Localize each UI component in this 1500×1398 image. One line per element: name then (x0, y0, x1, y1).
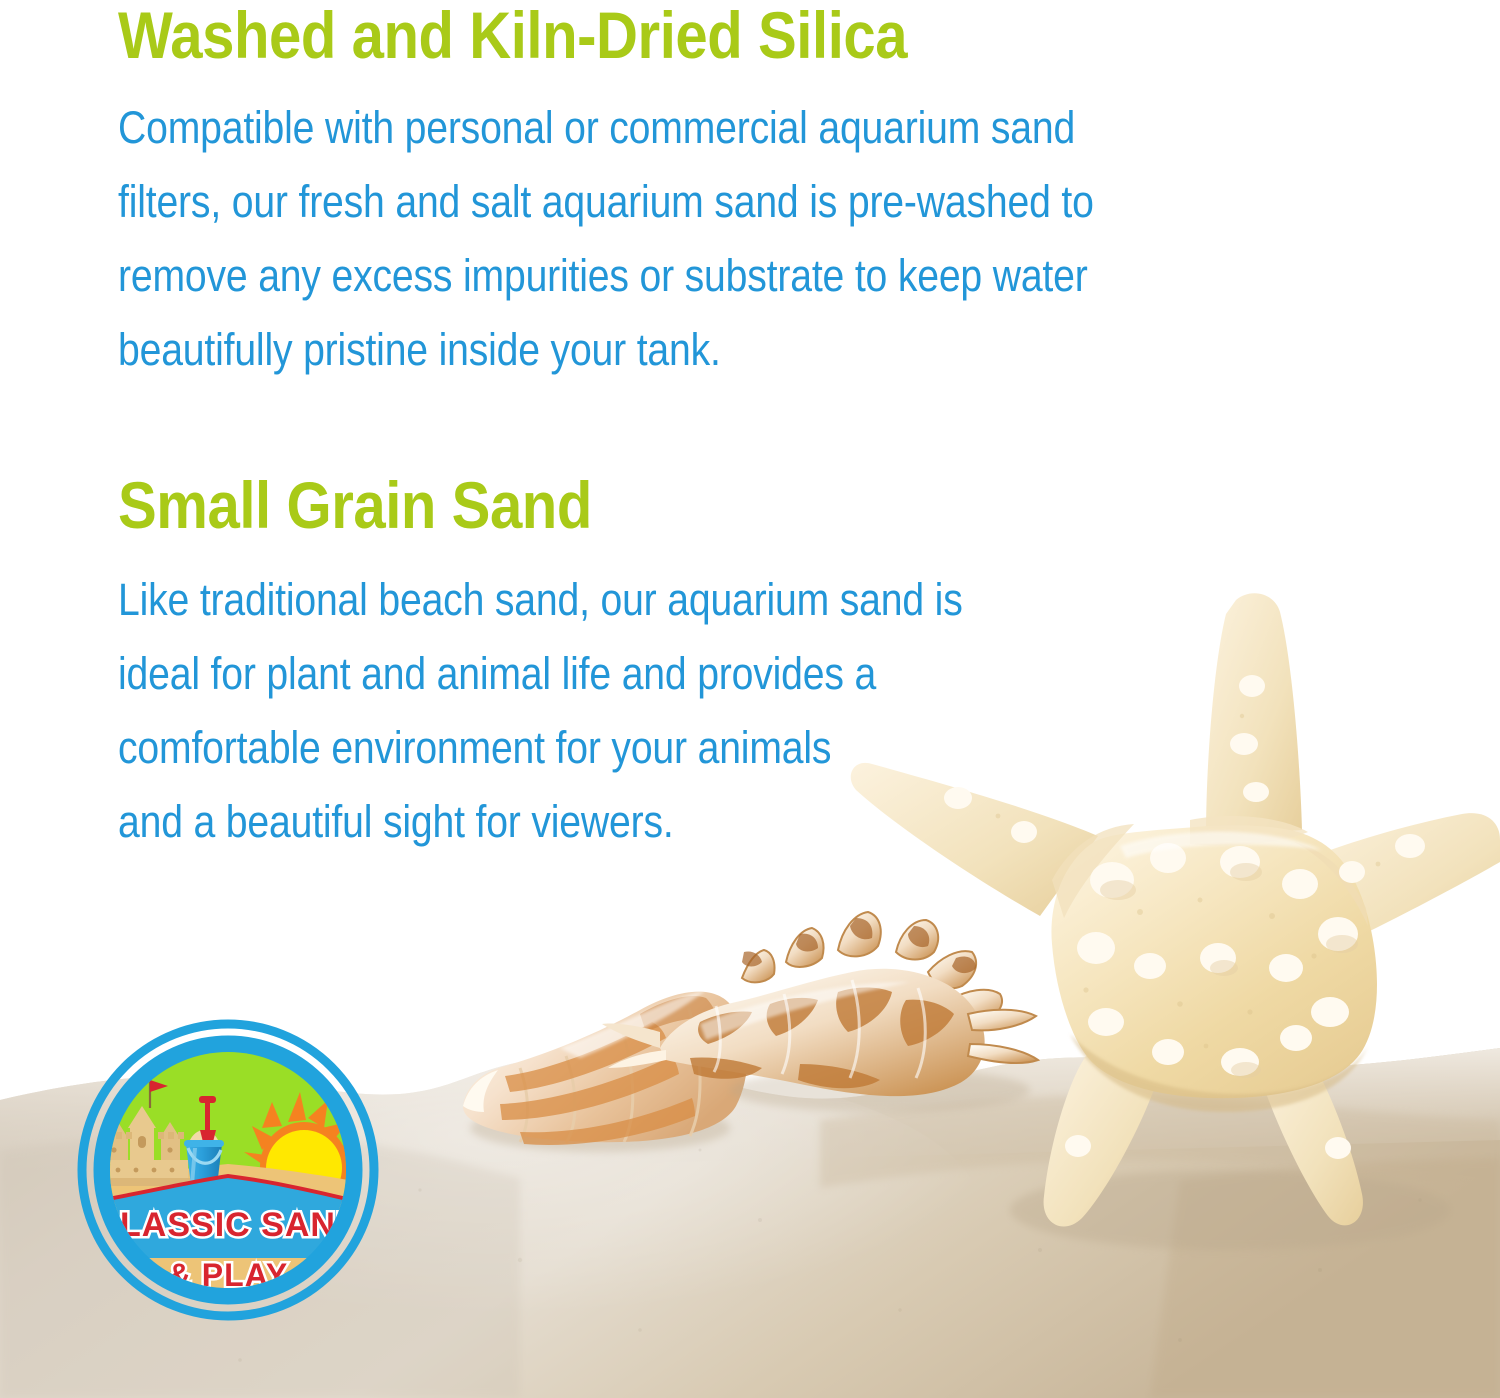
paragraph-line: beautifully pristine inside your tank. (118, 313, 1094, 387)
paragraph-line: ideal for plant and animal life and prov… (118, 637, 963, 711)
paragraph-small-grain-sand: Like traditional beach sand, our aquariu… (118, 563, 963, 859)
feature-block-washed-silica: Washed and Kiln-Dried Silica Compatible … (118, 0, 1239, 387)
conch-shell (602, 912, 1038, 1112)
logo-brand-line-1: CLASSIC SAND (94, 1206, 361, 1244)
heading-small-grain-sand: Small Grain Sand (118, 472, 972, 539)
paragraph-line: Like traditional beach sand, our aquariu… (118, 563, 963, 637)
heading-washed-silica: Washed and Kiln-Dried Silica (118, 0, 1105, 69)
brand-logo: CLASSIC SAND & PLAY (76, 1018, 380, 1322)
paragraph-washed-silica: Compatible with personal or commercial a… (118, 91, 1094, 387)
cone-shell (463, 990, 747, 1152)
feature-block-small-grain-sand: Small Grain Sand Like traditional beach … (118, 472, 1089, 859)
paragraph-line: remove any excess impurities or substrat… (118, 239, 1094, 313)
product-feature-image: Washed and Kiln-Dried Silica Compatible … (0, 0, 1500, 1398)
paragraph-line: filters, our fresh and salt aquarium san… (118, 165, 1094, 239)
paragraph-line: comfortable environment for your animals (118, 711, 963, 785)
paragraph-line: Compatible with personal or commercial a… (118, 91, 1094, 165)
paragraph-line: and a beautiful sight for viewers. (118, 785, 963, 859)
